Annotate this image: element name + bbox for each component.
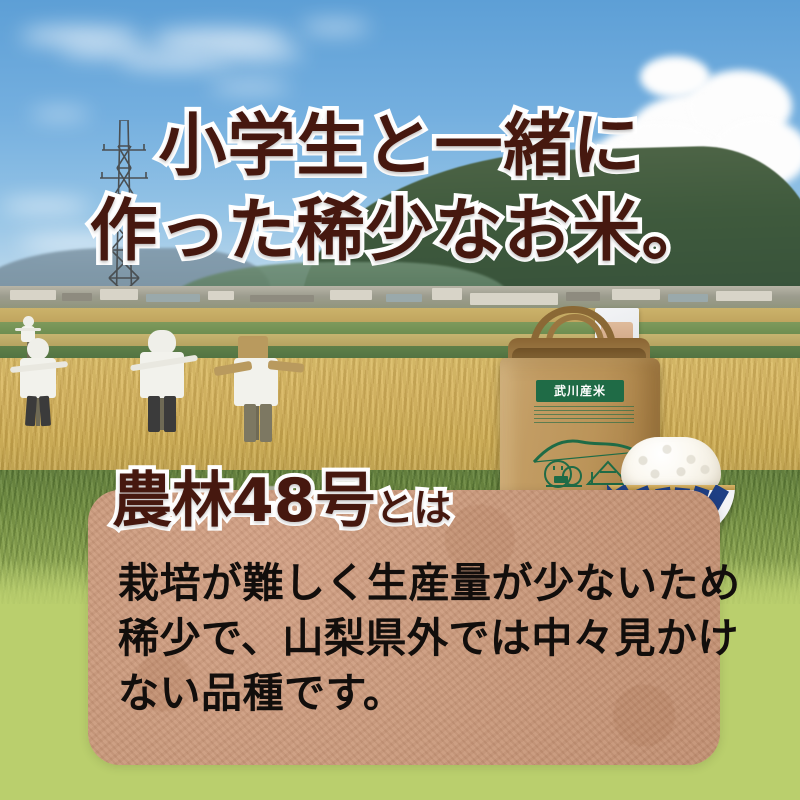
section-heading: 農林48号とは <box>112 452 452 539</box>
description-text: 栽培が難しく生産量が少ないため 稀少で、山梨県外では中々見かけ ない品種です。 <box>118 556 698 721</box>
variety-name: 農林48号 <box>112 466 376 536</box>
body-line-1: 栽培が難しく生産量が少ないため <box>118 556 698 611</box>
scarecrow-center <box>128 330 198 435</box>
headline-line-1: 小学生と一緒に <box>0 104 800 189</box>
page-title: 小学生と一緒に 作った稀少なお米。 <box>0 104 800 274</box>
scarecrow-left <box>8 338 70 430</box>
bag-brand-label: 武川産米 <box>536 380 624 402</box>
variety-suffix: とは <box>376 486 452 530</box>
headline-line-2: 作った稀少なお米。 <box>0 189 800 274</box>
bag-fineprint <box>534 406 634 424</box>
body-line-3: ない品種です。 <box>118 666 698 721</box>
body-line-2: 稀少で、山梨県外では中々見かけ <box>118 611 698 666</box>
scarecrow-right <box>218 336 298 444</box>
poster-root: 武川産米 <box>0 0 800 800</box>
